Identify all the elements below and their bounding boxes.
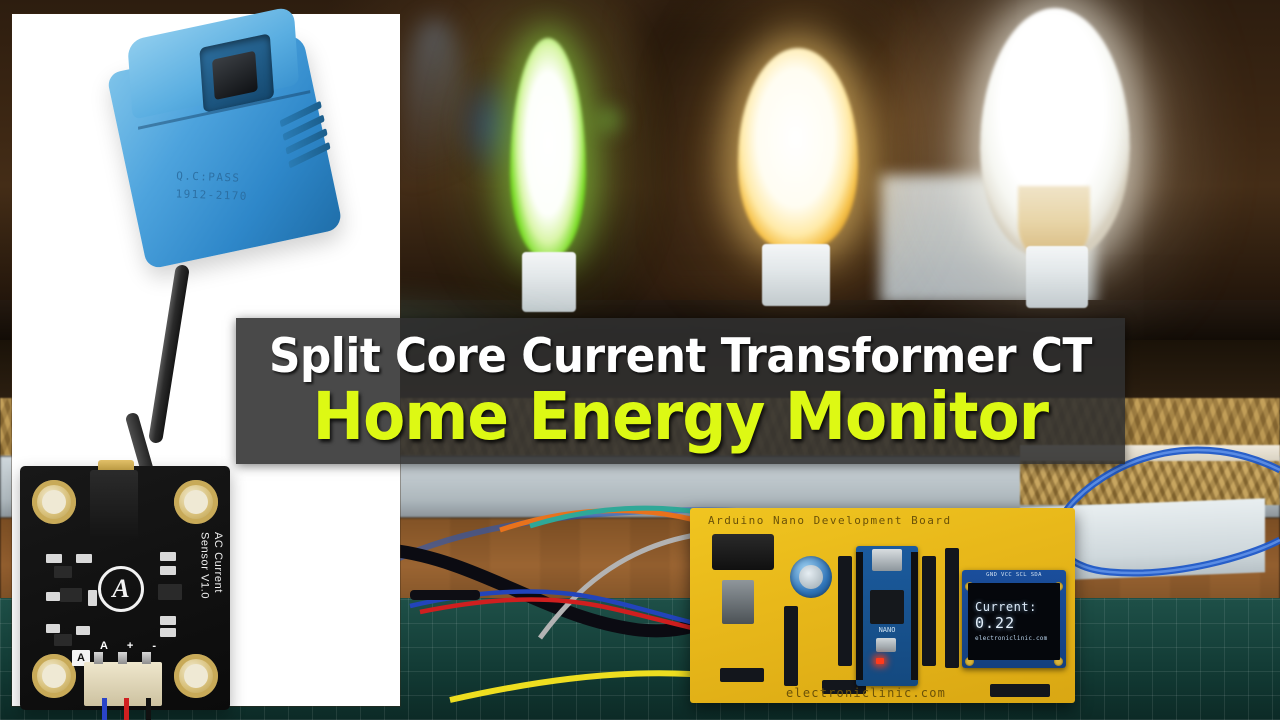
title-line-1: Split Core Current Transformer CT	[269, 333, 1092, 380]
nano-silkscreen-label: NANO	[856, 626, 918, 634]
pin-label-minus: -	[152, 640, 156, 652]
green-candle-bulb	[492, 38, 612, 308]
pin-header	[784, 606, 798, 686]
smd-ic	[60, 588, 82, 602]
bulb-glass	[510, 38, 586, 258]
mounting-pad	[32, 654, 76, 698]
arduino-nano-module: NANO	[856, 546, 918, 686]
ct-marking-line2: 1912-2170	[175, 185, 248, 206]
white-a-bulb	[970, 8, 1145, 308]
smd-resistor	[46, 624, 60, 633]
title-banner: Split Core Current Transformer CT Home E…	[236, 318, 1125, 464]
smd-ic	[158, 584, 182, 600]
voltage-regulator	[722, 580, 754, 624]
ct-ferrite-core	[212, 51, 258, 100]
reset-button[interactable]	[876, 638, 896, 652]
pin-label-plus: +	[127, 640, 133, 652]
smd-resistor	[46, 592, 60, 601]
pin-header	[838, 556, 852, 666]
pin-header	[720, 668, 764, 682]
smd-capacitor	[54, 634, 72, 646]
sensor-pin-labels: A + -	[100, 640, 156, 652]
bulb-socket	[762, 244, 830, 306]
bulb-glass	[738, 48, 858, 248]
mini-usb-port	[872, 549, 902, 571]
oled-display-module: GND VCC SCL SDA Current: 0.22 electronic…	[962, 570, 1066, 668]
connector-lead-wires	[98, 698, 158, 720]
audio-jack-connector	[90, 470, 138, 538]
title-line-2: Home Energy Monitor	[313, 384, 1048, 450]
pin-header	[922, 556, 936, 666]
smd-resistor	[160, 628, 176, 637]
ct-marking-text: Q.C:PASS 1912-2170	[175, 167, 248, 206]
smd-resistor	[88, 590, 97, 606]
ct-output-cable	[148, 264, 190, 444]
oled-pin-header-labels: GND VCC SCL SDA	[968, 572, 1060, 581]
smd-resistor	[46, 554, 62, 563]
oled-watermark: electroniclinic.com	[975, 635, 1060, 642]
dc-jack	[712, 534, 774, 570]
devboard-silkscreen-website: electroniclinic.com	[786, 686, 946, 700]
smd-resistor	[160, 616, 176, 625]
pin-label-a: A	[100, 640, 108, 652]
smd-resistor	[76, 626, 90, 635]
power-led	[876, 658, 884, 664]
nano-right-pins	[911, 552, 918, 680]
electrolytic-capacitor	[790, 556, 832, 598]
thumbnail-stage: Arduino Nano Development Board NANO	[0, 0, 1280, 720]
arduino-nano-development-board: Arduino Nano Development Board NANO	[690, 508, 1075, 703]
split-core-ct-sensor: Q.C:PASS 1912-2170	[100, 3, 359, 292]
oled-screen: Current: 0.22 electroniclinic.com	[968, 583, 1060, 660]
pin-header	[945, 548, 959, 668]
microcontroller-chip	[870, 590, 904, 624]
pin-header	[990, 684, 1050, 697]
devboard-silkscreen-title: Arduino Nano Development Board	[708, 514, 1065, 527]
warm-pear-bulb	[730, 48, 870, 310]
oled-current-value: 0.22	[975, 615, 1060, 632]
sensor-board-label: AC CurrentSensor V1.0	[197, 532, 225, 599]
ac-current-sensor-board: A AC CurrentSensor V1.0 A + - A	[20, 466, 230, 710]
nano-left-pins	[856, 552, 863, 680]
smd-resistor	[160, 552, 176, 561]
mounting-pad	[32, 480, 76, 524]
gravity-logo-icon: A	[98, 566, 144, 612]
smd-resistor	[76, 554, 92, 563]
bulb-socket	[1026, 246, 1088, 308]
mounting-pad	[174, 480, 218, 524]
smd-resistor	[160, 566, 176, 575]
smd-capacitor	[54, 566, 72, 578]
mounting-pad	[174, 654, 218, 698]
